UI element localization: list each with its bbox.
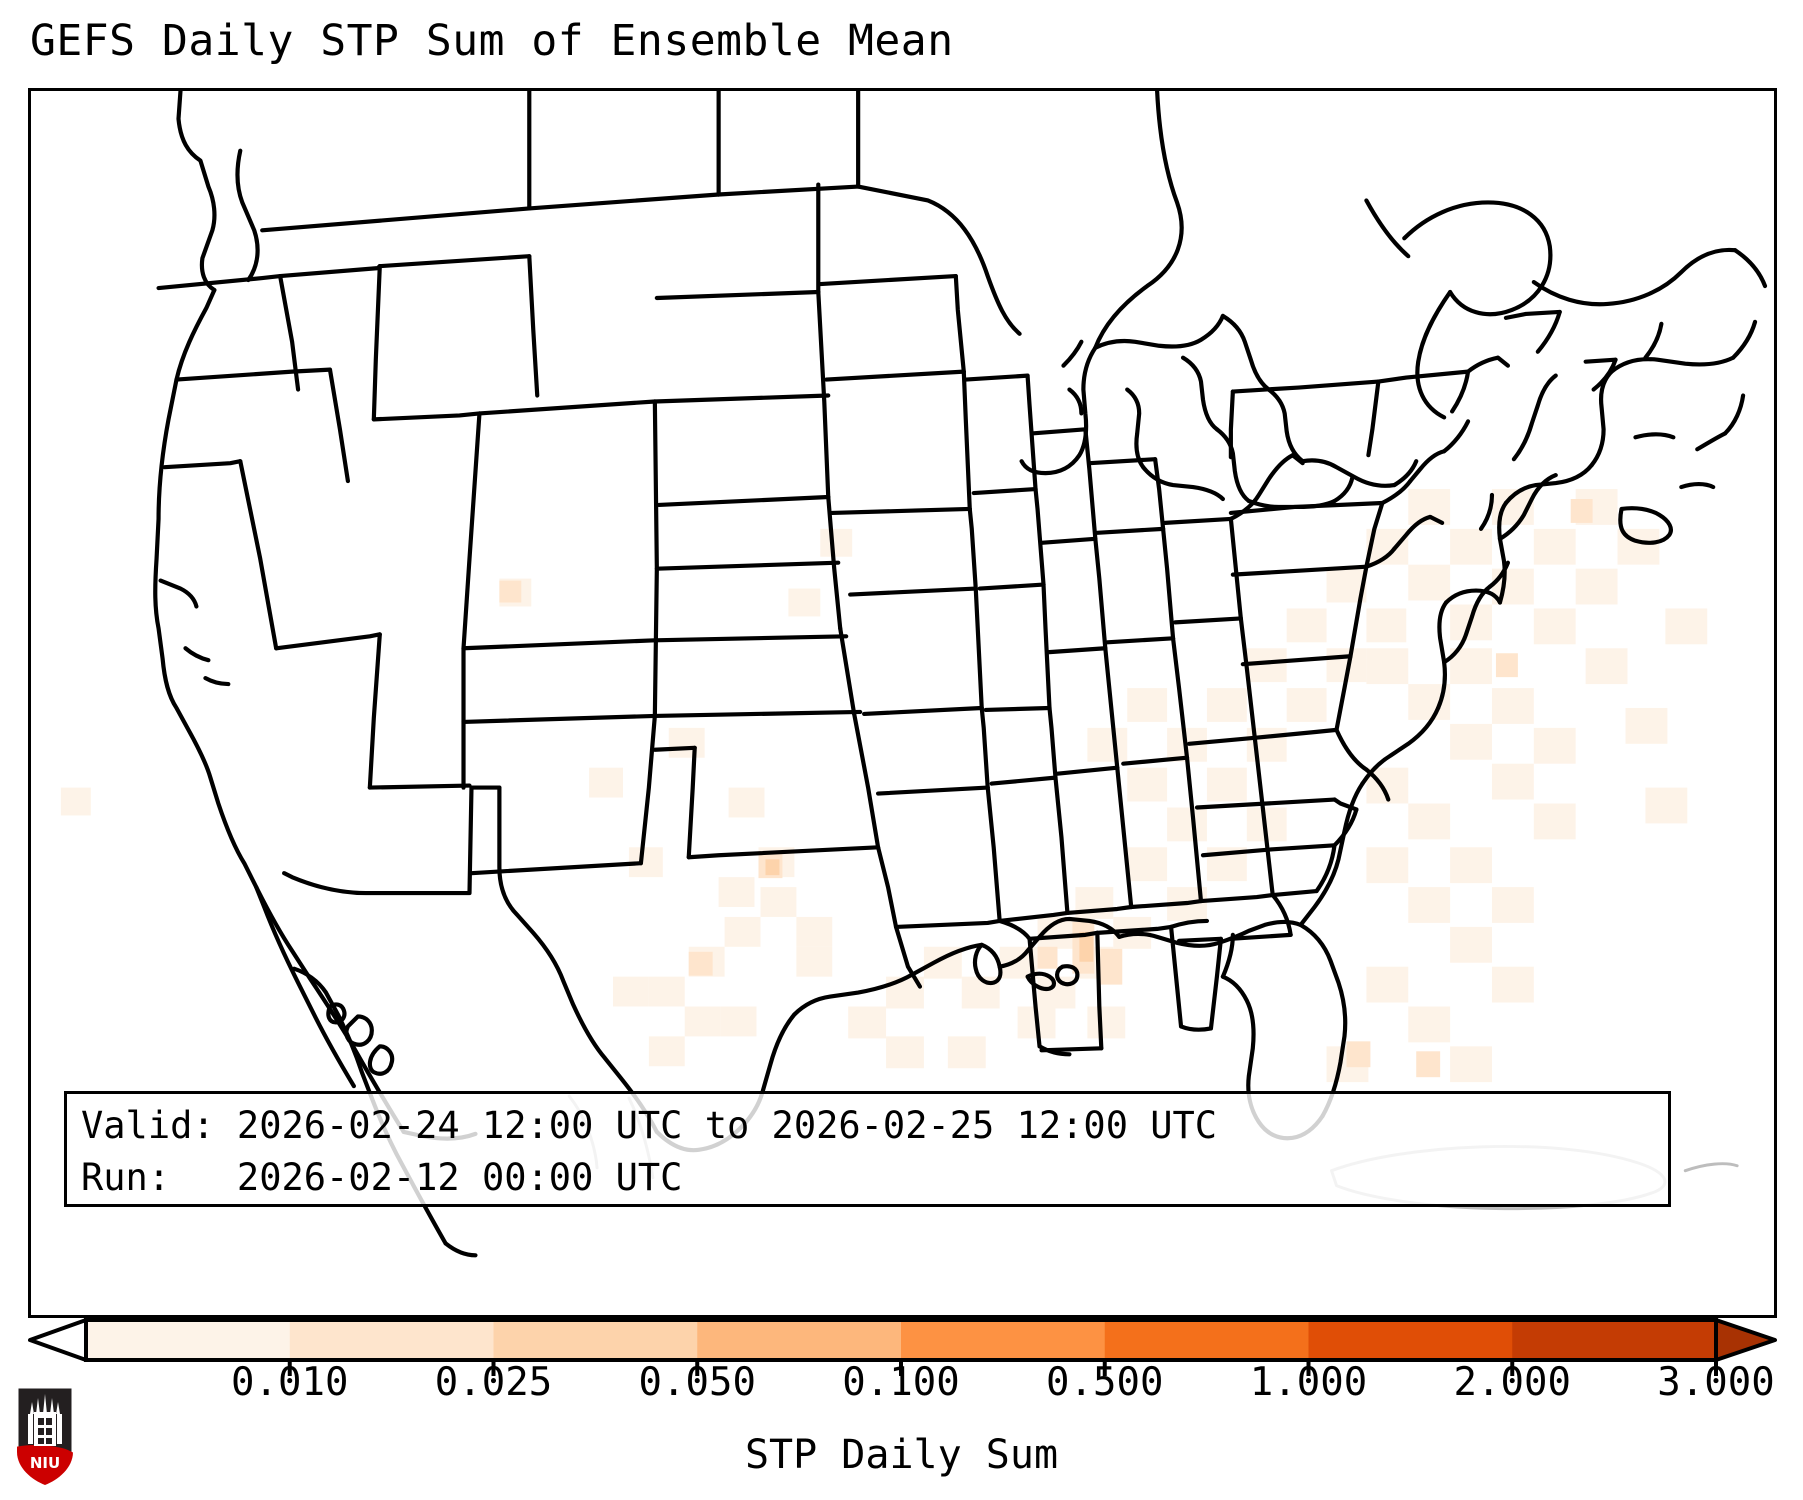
map-axes[interactable]: Valid: 2026-02-24 12:00 UTC to 2026-02-2… xyxy=(28,88,1777,1318)
colorbar-tick-labels: 0.0100.0250.0500.1000.5001.0002.0003.000 xyxy=(28,1360,1777,1412)
colorbar-band-5 xyxy=(1105,1320,1309,1360)
colorbar-band-0 xyxy=(86,1320,290,1360)
colorbar-band-4 xyxy=(901,1320,1105,1360)
colorbar-band-3 xyxy=(697,1320,901,1360)
run-time-line: Run: 2026-02-12 00:00 UTC xyxy=(81,1152,1668,1204)
colorbar-tick-label-5: 1.000 xyxy=(1250,1360,1367,1405)
colorbar-band-6 xyxy=(1309,1320,1513,1360)
colorbar-axis-label: STP Daily Sum xyxy=(0,1432,1803,1478)
figure-canvas: GEFS Daily STP Sum of Ensemble Mean xyxy=(0,0,1803,1500)
colorbar-tick-label-6: 2.000 xyxy=(1454,1360,1571,1405)
colorbar-tick-label-7: 3.000 xyxy=(1657,1360,1774,1405)
niu-logo-text: NIU xyxy=(30,1454,60,1472)
page-title: GEFS Daily STP Sum of Ensemble Mean xyxy=(30,16,954,66)
colorbar-band-1 xyxy=(290,1320,494,1360)
colorbar-tick-label-0: 0.010 xyxy=(231,1360,348,1405)
forecast-info-box: Valid: 2026-02-24 12:00 UTC to 2026-02-2… xyxy=(64,1091,1671,1207)
colorbar-band-7 xyxy=(1512,1320,1716,1360)
colorbar-tick-label-4: 0.500 xyxy=(1046,1360,1163,1405)
colorbar-tick-label-2: 0.050 xyxy=(639,1360,756,1405)
colorbar-tick-label-1: 0.025 xyxy=(435,1360,552,1405)
colorbar[interactable]: 0.0100.0250.0500.1000.5001.0002.0003.000 xyxy=(28,1318,1777,1378)
niu-shield-logo: NIU xyxy=(14,1384,76,1488)
colorbar-band-2 xyxy=(494,1320,698,1360)
map-canvas: Valid: 2026-02-24 12:00 UTC to 2026-02-2… xyxy=(31,91,1774,1315)
valid-time-line: Valid: 2026-02-24 12:00 UTC to 2026-02-2… xyxy=(81,1100,1668,1152)
colorbar-tick-label-3: 0.100 xyxy=(842,1360,959,1405)
